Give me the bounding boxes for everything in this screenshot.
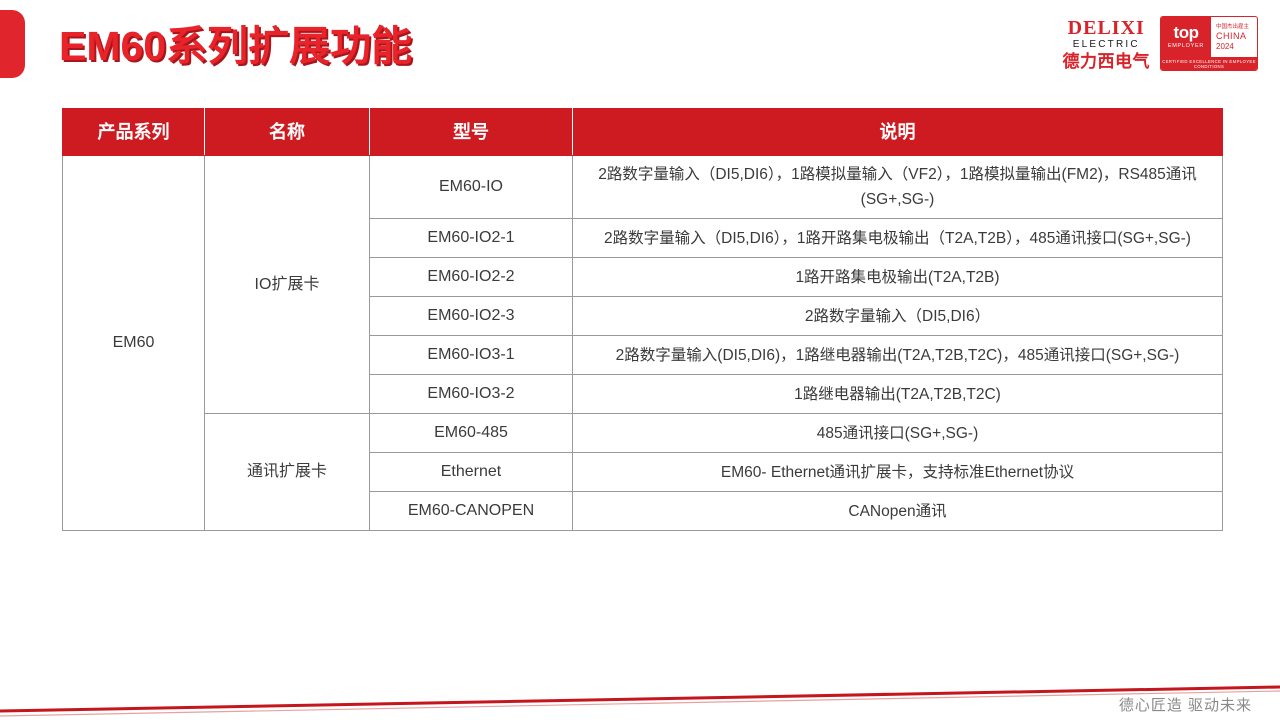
cell-model: EM60-IO bbox=[370, 156, 573, 219]
top-employer-badge: top EMPLOYER 中国杰出雇主 CHINA 2024 CERTIFIED… bbox=[1160, 16, 1258, 71]
column-header-model: 型号 bbox=[370, 109, 573, 156]
footer-diagonal-line bbox=[0, 660, 1280, 720]
cell-model: EM60-IO2-3 bbox=[370, 297, 573, 336]
badge-details: 中国杰出雇主 CHINA 2024 bbox=[1211, 17, 1257, 57]
cell-group-comm: 通讯扩展卡 bbox=[205, 414, 370, 531]
badge-year: 2024 bbox=[1216, 42, 1257, 52]
badge-cn-line: 中国杰出雇主 bbox=[1216, 23, 1257, 31]
cell-group-io: IO扩展卡 bbox=[205, 156, 370, 414]
table-header-row: 产品系列 名称 型号 说明 bbox=[63, 109, 1223, 156]
cell-description: 2路数字量输入(DI5,DI6)，1路继电器输出(T2A,T2B,T2C)，48… bbox=[573, 336, 1223, 375]
column-header-name: 名称 bbox=[205, 109, 370, 156]
cell-description: 1路开路集电极输出(T2A,T2B) bbox=[573, 258, 1223, 297]
badge-employer-text: EMPLOYER bbox=[1168, 42, 1204, 50]
cell-description: 485通讯接口(SG+,SG-) bbox=[573, 414, 1223, 453]
logo-block: DELIXI ELECTRIC 德力西电气 top EMPLOYER 中国杰出雇… bbox=[1063, 16, 1259, 71]
cell-model: EM60-IO3-1 bbox=[370, 336, 573, 375]
table-row: EM60 IO扩展卡 EM60-IO 2路数字量输入（DI5,DI6），1路模拟… bbox=[63, 156, 1223, 219]
cell-model: EM60-IO3-2 bbox=[370, 375, 573, 414]
table-body: EM60 IO扩展卡 EM60-IO 2路数字量输入（DI5,DI6），1路模拟… bbox=[63, 156, 1223, 531]
cell-description: 2路数字量输入（DI5,DI6），1路开路集电极输出（T2A,T2B），485通… bbox=[573, 219, 1223, 258]
delixi-logo: DELIXI ELECTRIC 德力西电气 bbox=[1063, 18, 1151, 70]
slide-footer: 德心匠造 驱动未来 bbox=[0, 660, 1280, 720]
badge-top-text: top bbox=[1174, 24, 1199, 41]
footer-slogan: 德心匠造 驱动未来 bbox=[1119, 694, 1252, 715]
cell-model: EM60-IO2-1 bbox=[370, 219, 573, 258]
column-header-product-series: 产品系列 bbox=[63, 109, 205, 156]
cell-description: 2路数字量输入（DI5,DI6），1路模拟量输入（VF2），1路模拟量输出(FM… bbox=[573, 156, 1223, 219]
table-row: 通讯扩展卡 EM60-485 485通讯接口(SG+,SG-) bbox=[63, 414, 1223, 453]
column-header-description: 说明 bbox=[573, 109, 1223, 156]
badge-main: top EMPLOYER 中国杰出雇主 CHINA 2024 bbox=[1161, 17, 1257, 57]
cell-description: EM60- Ethernet通讯扩展卡，支持标准Ethernet协议 bbox=[573, 453, 1223, 492]
expansion-spec-table: 产品系列 名称 型号 说明 EM60 IO扩展卡 EM60-IO 2路数字量输入… bbox=[62, 108, 1223, 531]
cell-product-series: EM60 bbox=[63, 156, 205, 531]
cell-model: EM60-CANOPEN bbox=[370, 492, 573, 531]
page-title: EM60系列扩展功能 bbox=[59, 20, 412, 72]
cell-model: EM60-IO2-2 bbox=[370, 258, 573, 297]
cell-description: 2路数字量输入（DI5,DI6） bbox=[573, 297, 1223, 336]
cell-model: EM60-485 bbox=[370, 414, 573, 453]
cell-description: 1路继电器输出(T2A,T2B,T2C) bbox=[573, 375, 1223, 414]
cell-description: CANopen通讯 bbox=[573, 492, 1223, 531]
brand-subtitle: ELECTRIC bbox=[1073, 40, 1140, 50]
cell-model: Ethernet bbox=[370, 453, 573, 492]
brand-wordmark: DELIXI bbox=[1068, 18, 1145, 38]
badge-certified-text: CERTIFIED EXCELLENCE IN EMPLOYEE CONDITI… bbox=[1161, 57, 1257, 70]
slide-header: EM60系列扩展功能 DELIXI ELECTRIC 德力西电气 top EMP… bbox=[0, 0, 1280, 95]
table-head: 产品系列 名称 型号 说明 bbox=[63, 109, 1223, 156]
brand-name-cn: 德力西电气 bbox=[1063, 53, 1151, 70]
badge-mark: top EMPLOYER bbox=[1161, 17, 1211, 57]
accent-bar bbox=[0, 10, 25, 78]
badge-country: CHINA bbox=[1216, 31, 1257, 42]
